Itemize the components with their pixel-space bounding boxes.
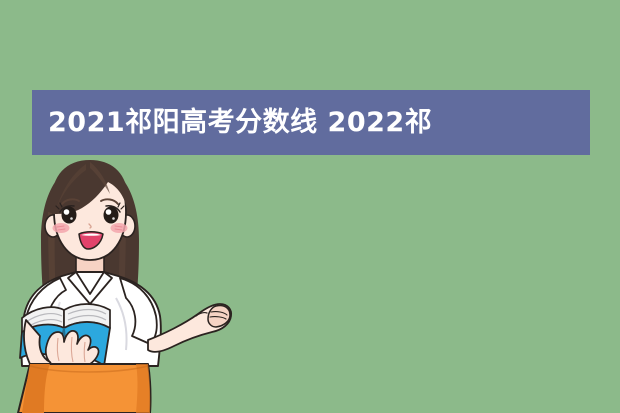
face-group: [51, 160, 128, 260]
page-title: 2021祁阳高考分数线 2022祁: [48, 109, 432, 136]
student-girl-illustration: [0, 152, 280, 413]
page-root: 2021祁阳高考分数线 2022祁: [0, 0, 620, 413]
title-banner: 2021祁阳高考分数线 2022祁: [32, 90, 590, 155]
skirt-group: [18, 364, 151, 413]
